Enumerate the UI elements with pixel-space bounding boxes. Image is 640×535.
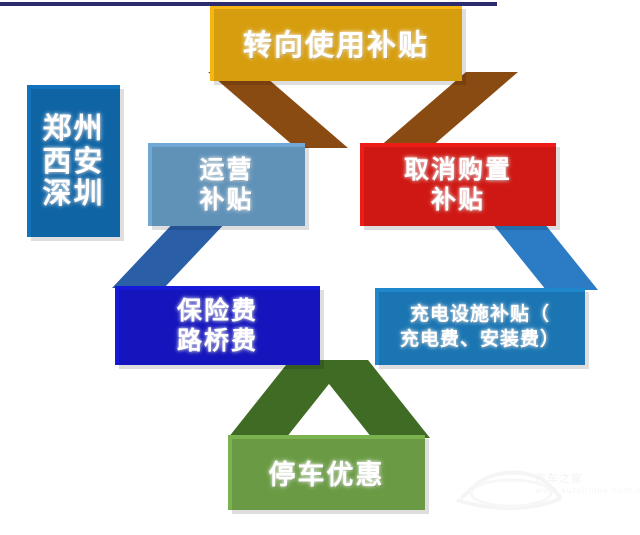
- node-cities[interactable]: 郑州 西安 深圳: [27, 85, 120, 237]
- node-cities-line-3: 深圳: [42, 177, 104, 209]
- top-divider-rule: [0, 2, 497, 6]
- node-cities-line-1: 郑州: [42, 112, 104, 144]
- connector-charging-to-parking: [310, 360, 430, 442]
- diagram-canvas: 转向使用补贴 郑州 西安 深圳 运营 补贴 取消购置 补贴 保险费 路桥费 充电…: [0, 0, 640, 535]
- node-cancel-purchase-subsidy-line-2: 补贴: [431, 185, 485, 215]
- node-parking-discount[interactable]: 停车优惠: [228, 435, 425, 510]
- node-operation-subsidy-line-1: 运营: [199, 155, 253, 185]
- node-insurance-toll-fee-line-1: 保险费: [177, 296, 258, 326]
- node-charging-facility-subsidy[interactable]: 充电设施补贴（ 充电费、安装费）: [375, 288, 585, 365]
- node-operation-subsidy-line-2: 补贴: [199, 185, 253, 215]
- top-divider-rule-right: [462, 2, 497, 6]
- node-cancel-purchase-subsidy[interactable]: 取消购置 补贴: [360, 143, 556, 226]
- node-charging-facility-subsidy-line-1: 充电设施补贴（: [410, 302, 550, 326]
- watermark-subtext: www.autohome.com.cn: [535, 486, 640, 495]
- node-operation-subsidy[interactable]: 运营 补贴: [148, 143, 305, 226]
- node-redirect-usage-subsidy-label: 转向使用补贴: [243, 22, 429, 64]
- watermark: 汽车之家 www.autohome.com.cn: [455, 462, 630, 520]
- node-parking-discount-label: 停车优惠: [269, 453, 385, 492]
- node-insurance-toll-fee[interactable]: 保险费 路桥费: [115, 286, 320, 365]
- node-cancel-purchase-subsidy-line-1: 取消购置: [404, 155, 512, 185]
- car-logo-icon: [455, 462, 630, 520]
- node-cities-line-2: 西安: [42, 145, 104, 177]
- node-insurance-toll-fee-line-2: 路桥费: [177, 326, 258, 356]
- node-charging-facility-subsidy-line-2: 充电费、安装费）: [400, 327, 560, 351]
- node-redirect-usage-subsidy[interactable]: 转向使用补贴: [210, 5, 462, 81]
- watermark-text: 汽车之家: [535, 470, 583, 486]
